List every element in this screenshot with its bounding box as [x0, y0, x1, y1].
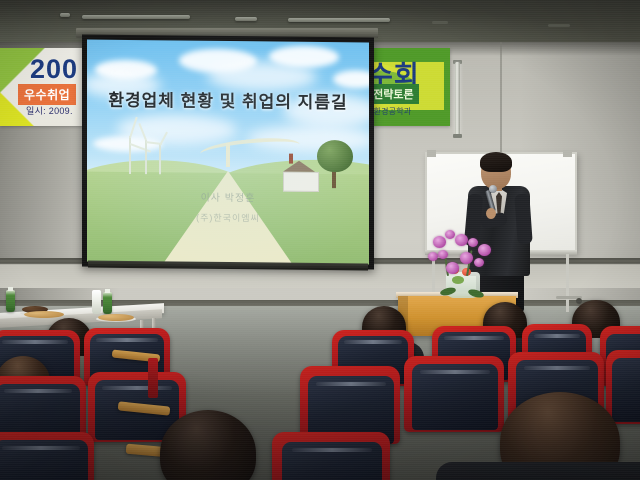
orchid-bloom [468, 238, 478, 247]
ceiling-light-fixture [235, 17, 257, 21]
whiteboard-bracket [427, 150, 436, 157]
tree-icon [317, 140, 353, 172]
lecture-hall-photo: 200 수회 우수취업 경전략토론 일시: 2009. 학교 환경공학과 [0, 0, 640, 480]
seat-highlight [2, 446, 80, 450]
orchid-bloom [445, 230, 455, 239]
ceiling-light-fixture [432, 21, 448, 24]
presenter-hair [480, 152, 512, 172]
ceiling-light-fixture [288, 18, 390, 22]
drink-bottle [6, 290, 15, 312]
whiteboard-bracket [563, 150, 572, 157]
seat-highlight [4, 389, 72, 393]
whiteboard-stand-leg [566, 254, 569, 312]
orchid-bloom [428, 252, 438, 261]
seat-cushion [612, 358, 640, 422]
road-far-segment [226, 143, 230, 167]
presenter-hand [486, 208, 496, 219]
snack-items [24, 311, 64, 318]
ceiling-light-fixture [82, 15, 190, 19]
banner-date-text: 일시: 2009. [26, 104, 73, 117]
orchid-bloom [478, 244, 491, 256]
orchid-bloom [446, 262, 459, 274]
orchid-bloom [474, 258, 484, 267]
seat-highlight [420, 370, 490, 374]
wall-tube-light [455, 62, 460, 136]
banner-tag-left: 우수취업 [18, 84, 76, 105]
drink-bottle [103, 292, 112, 314]
seat-highlight [344, 340, 402, 344]
seat-highlight [292, 448, 372, 452]
seat-highlight [524, 366, 590, 370]
audience-shoulders-foreground [436, 462, 640, 480]
cloud-shape [333, 70, 369, 88]
banner-year-text: 200 [30, 54, 78, 85]
snack-items [98, 314, 134, 321]
seat-highlight [316, 382, 386, 386]
orchid-bloom [438, 250, 448, 259]
wind-turbine-icon [159, 144, 161, 174]
seat-highlight [96, 338, 158, 342]
drink-bottle [92, 290, 101, 314]
ceiling-light-fixture [60, 13, 70, 17]
ceiling-light-fixture [548, 24, 570, 27]
slide-presenter-name: 이사 박정훈 [87, 188, 369, 206]
seat-highlight [534, 334, 580, 338]
wind-turbine-icon [145, 140, 147, 174]
projection-screen: 환경업체 현황 및 취업의 지름길 이사 박정훈 (주)한국이엠씨 [82, 34, 374, 269]
tube-light-cap [453, 134, 462, 138]
chimney-icon [289, 154, 293, 164]
orchid-bloom [433, 236, 446, 248]
microphone-head [489, 185, 497, 193]
farmhouse-roof-icon [283, 161, 315, 172]
seat-armrest-post [148, 358, 158, 398]
greenery-shape [452, 276, 464, 284]
bottle-cap [8, 287, 13, 291]
wind-turbine-icon [129, 136, 131, 174]
presentation-slide: 환경업체 현황 및 취업의 지름길 이사 박정훈 (주)한국이엠씨 [87, 40, 369, 265]
orchid-bloom [460, 252, 473, 264]
seat-highlight [444, 336, 504, 340]
seat-highlight [2, 340, 68, 344]
seat-highlight [102, 386, 172, 390]
slide-title: 환경업체 현황 및 취업의 지름길 [87, 86, 369, 114]
bottle-cap [105, 289, 110, 293]
orchid-bloom [455, 234, 468, 246]
